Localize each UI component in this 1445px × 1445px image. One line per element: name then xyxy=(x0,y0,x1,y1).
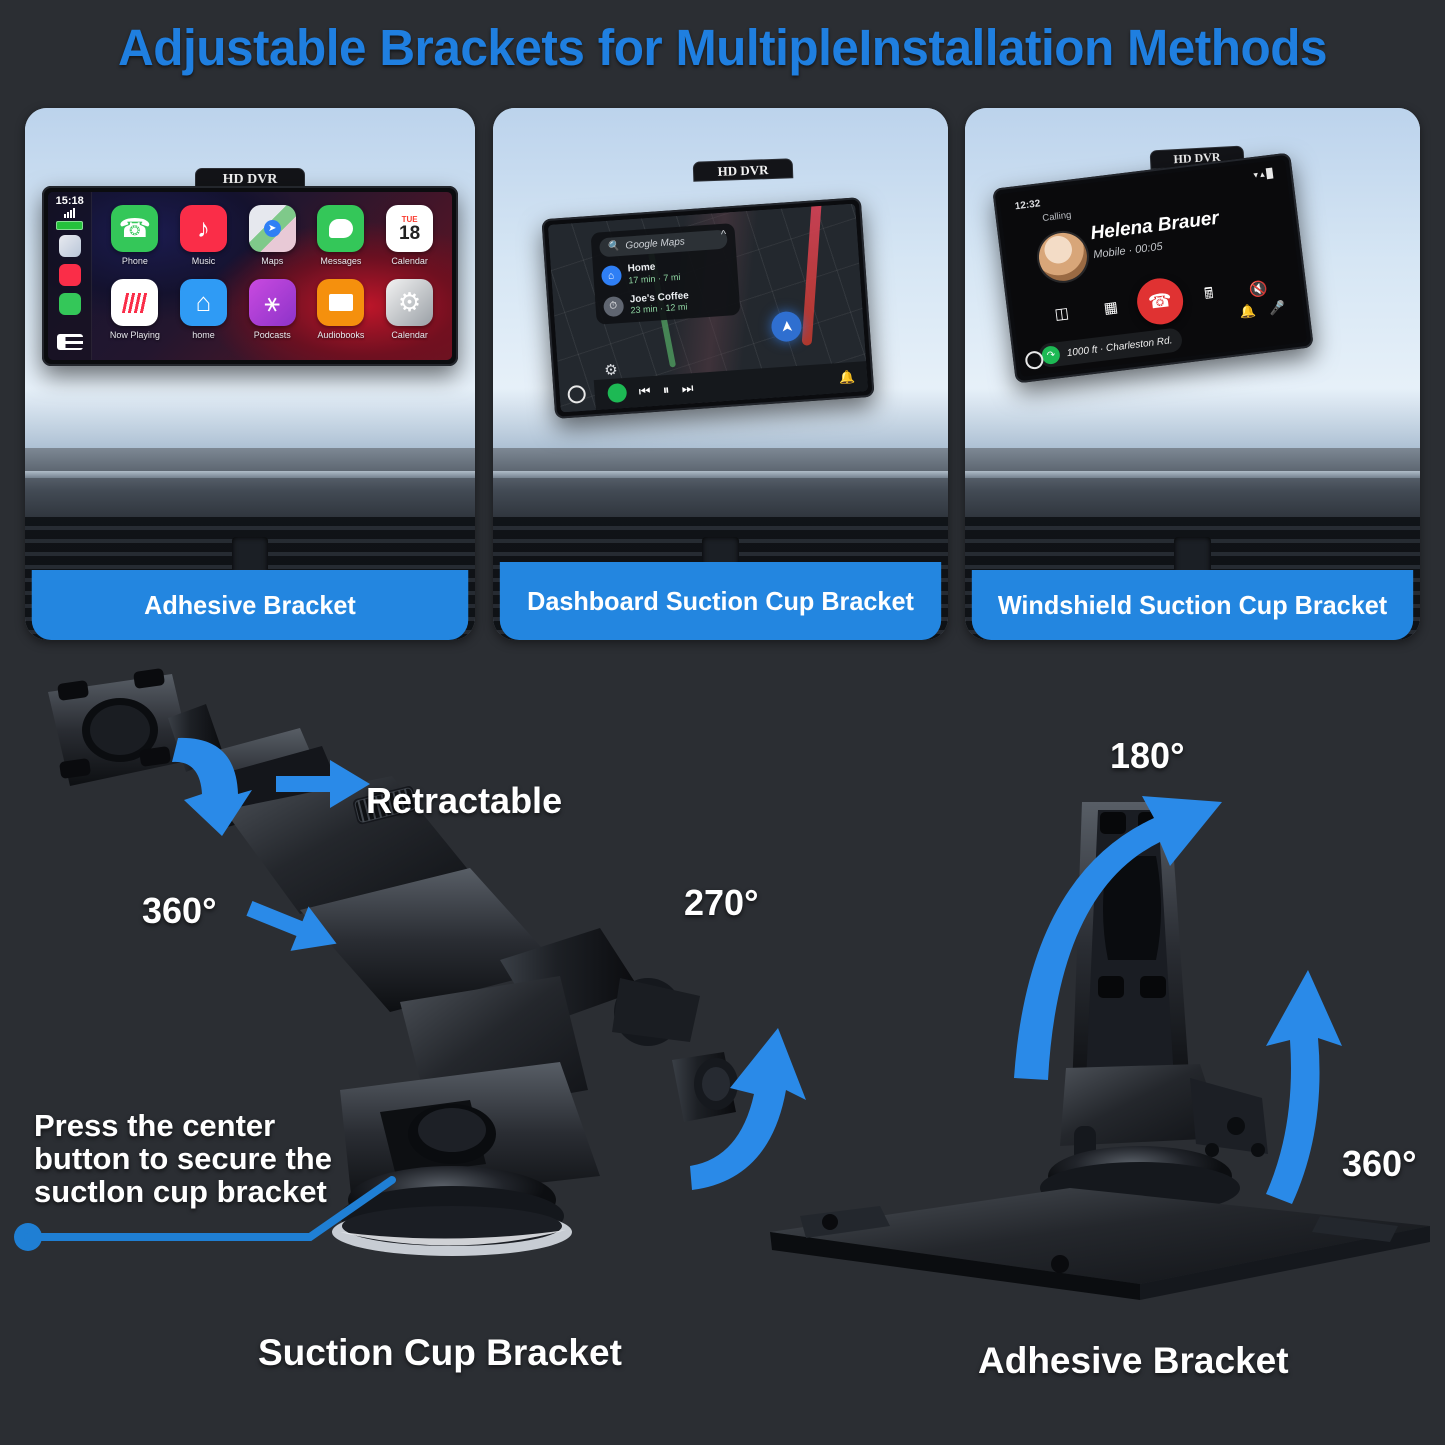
app-list-icon[interactable] xyxy=(57,334,83,350)
music-mini-icon[interactable] xyxy=(59,264,81,286)
card-windshield-suction-bracket[interactable]: HD DVR ▾▴█ 12:32 Calling Helena Brauer M… xyxy=(965,108,1420,640)
next-track-icon[interactable]: ⏭ xyxy=(681,380,694,397)
app-tile[interactable]: ⌂ home xyxy=(169,279,238,340)
app-label: Phone xyxy=(101,256,170,266)
navigation-hint-text: 1000 ft · Charleston Rd. xyxy=(1066,335,1173,359)
app-tile[interactable]: Audiobooks xyxy=(307,279,376,340)
bracket-detail-section: Retractable 360° 270° Press the center b… xyxy=(0,660,1445,1445)
phone-icon: ☎ xyxy=(111,205,158,252)
annotation-270: 270° xyxy=(684,882,758,924)
now-playing-icon xyxy=(111,279,158,326)
app-tile[interactable]: Messages xyxy=(307,205,376,266)
app-label: home xyxy=(169,330,238,340)
label-suction-cup-bracket: Suction Cup Bracket xyxy=(258,1332,622,1374)
calendar-icon: TUE 18 xyxy=(386,205,433,252)
annotation-center-button-callout: Press the center button to secure the su… xyxy=(34,1110,364,1209)
carplay-screen-home[interactable]: 15:18 ☎ xyxy=(48,192,452,360)
mute-microphone-icon[interactable]: 🔇 xyxy=(1233,277,1284,301)
calendar-day: 18 xyxy=(399,224,420,243)
chevron-up-icon[interactable]: ^ xyxy=(721,229,727,241)
maps-destination-panel[interactable]: ^ 🔍 Google Maps ⌂ Home 17 min · 7 mi xyxy=(590,223,741,324)
card-photo-windshield: HD DVR ▾▴█ 12:32 Calling Helena Brauer M… xyxy=(965,108,1420,640)
home-icon: ⌂ xyxy=(180,279,227,326)
retractable-arrow-right xyxy=(240,886,345,966)
annotation-180: 180° xyxy=(1110,735,1184,777)
search-placeholder: Google Maps xyxy=(625,237,685,252)
card-caption-windshield: Windshield Suction Cup Bracket xyxy=(972,570,1413,640)
end-call-icon: ☎ xyxy=(1134,276,1185,327)
app-tile[interactable]: Now Playing xyxy=(101,279,170,340)
app-tile[interactable]: ☎ Phone xyxy=(101,205,170,266)
end-call-button[interactable]: ☎ xyxy=(1133,276,1188,328)
spotify-icon[interactable] xyxy=(607,383,627,403)
app-label: Music xyxy=(169,256,238,266)
maps-mini-icon[interactable] xyxy=(59,235,81,257)
notification-bell-icon[interactable]: 🔔 xyxy=(1238,302,1256,320)
app-label: Podcasts xyxy=(238,330,307,340)
app-label: Calendar xyxy=(375,256,444,266)
podcasts-icon: ⚹ xyxy=(249,279,296,326)
music-icon: ♪ xyxy=(180,205,227,252)
tilt-180-arrow xyxy=(1014,796,1222,1080)
avatar xyxy=(1036,230,1089,283)
signal-strength-icon xyxy=(64,208,75,218)
card-photo-dashboard: HD DVR ^ 🔍 Google Maps xyxy=(493,108,948,640)
annotation-360-right: 360° xyxy=(1342,1143,1416,1185)
carplay-device-adhesive: 15:18 ☎ xyxy=(42,186,458,366)
app-tile[interactable]: ♪ Music xyxy=(169,205,238,266)
label-adhesive-bracket: Adhesive Bracket xyxy=(978,1340,1289,1382)
microphone-icon[interactable]: 🎤 xyxy=(1268,299,1286,317)
call-screen[interactable]: ▾▴█ 12:32 Calling Helena Brauer Mobile ·… xyxy=(999,159,1307,377)
messages-mini-icon[interactable] xyxy=(59,293,81,315)
app-tile[interactable]: TUE 18 Calendar xyxy=(375,205,444,266)
previous-track-icon[interactable]: ⏮ xyxy=(638,383,651,400)
retractable-arrow-left xyxy=(276,760,370,808)
app-label: Audiobooks xyxy=(307,330,376,340)
annotation-360-left: 360° xyxy=(142,890,216,932)
messages-icon xyxy=(317,205,364,252)
search-icon: 🔍 xyxy=(607,241,620,253)
page-title: Adjustable Brackets for MultipleInstalla… xyxy=(22,18,1424,77)
app-label: Now Playing xyxy=(101,330,170,340)
battery-icon xyxy=(56,221,83,230)
card-caption-adhesive: Adhesive Bracket xyxy=(32,570,469,640)
google-maps-view[interactable]: ^ 🔍 Google Maps ⌂ Home 17 min · 7 mi xyxy=(548,203,868,412)
destination-row[interactable]: ⏱ Joe's Coffee 23 min · 12 mi xyxy=(602,287,732,318)
home-pin-icon: ⌂ xyxy=(600,265,621,286)
app-label: Messages xyxy=(307,256,376,266)
carplay-device-windshield: ▾▴█ 12:32 Calling Helena Brauer Mobile ·… xyxy=(992,152,1314,383)
pause-icon[interactable]: ⏸ xyxy=(662,382,670,398)
maps-icon: ➤ xyxy=(249,205,296,252)
phone-call-view[interactable]: ▾▴█ 12:32 Calling Helena Brauer Mobile ·… xyxy=(999,159,1307,377)
bluetooth-icon[interactable]: 🖩 xyxy=(1183,280,1235,311)
card-photo-adhesive: HD DVR 15:18 xyxy=(25,108,475,640)
card-caption-dashboard: Dashboard Suction Cup Bracket xyxy=(500,562,941,640)
annotation-retractable: Retractable xyxy=(366,780,562,822)
search-input[interactable]: 🔍 Google Maps xyxy=(598,230,728,258)
carplay-device-dashboard: ^ 🔍 Google Maps ⌂ Home 17 min · 7 mi xyxy=(541,197,874,419)
sidebar-recent-apps[interactable] xyxy=(59,235,81,315)
status-time: 15:18 xyxy=(56,195,84,207)
annotation-arrows xyxy=(0,660,1445,1445)
card-dashboard-suction-bracket[interactable]: HD DVR ^ 🔍 Google Maps xyxy=(493,108,948,640)
installation-methods-gallery: HD DVR 15:18 xyxy=(0,108,1445,648)
destination-row[interactable]: ⌂ Home 17 min · 7 mi xyxy=(600,257,730,288)
recent-pin-icon: ⏱ xyxy=(603,296,624,317)
app-label: Calendar xyxy=(375,330,444,340)
caller-name: Helena Brauer xyxy=(1090,208,1221,246)
maps-screen[interactable]: ^ 🔍 Google Maps ⌂ Home 17 min · 7 mi xyxy=(548,203,868,412)
dialpad-icon[interactable]: ▦ xyxy=(1085,296,1136,320)
home-button-icon[interactable] xyxy=(1024,351,1044,371)
notification-bell-icon[interactable]: 🔔 xyxy=(838,369,855,386)
app-tile[interactable]: ⚹ Podcasts xyxy=(238,279,307,340)
call-state-label: Calling xyxy=(1042,210,1072,224)
carplay-sidebar[interactable]: 15:18 xyxy=(48,192,92,360)
rotation-270-arrow xyxy=(690,1028,806,1190)
app-label: Maps xyxy=(238,256,307,266)
keypad-toggle-icon[interactable]: ◫ xyxy=(1036,302,1087,326)
settings-icon: ⚙ xyxy=(386,279,433,326)
turn-right-icon: ↷ xyxy=(1041,346,1061,366)
rotation-360-arrow-left xyxy=(172,738,252,836)
app-tile[interactable]: ⚙ Calendar xyxy=(375,279,444,340)
carplay-app-grid[interactable]: ☎ Phone ♪ Music ➤ Maps xyxy=(101,205,444,353)
status-time: 12:32 xyxy=(1014,198,1041,212)
status-icons: ▾▴█ xyxy=(1253,168,1276,182)
card-adhesive-bracket[interactable]: HD DVR 15:18 xyxy=(25,108,475,640)
gear-icon[interactable]: ⚙ xyxy=(604,360,619,379)
app-tile[interactable]: ➤ Maps xyxy=(238,205,307,266)
hd-dvr-badge: HD DVR xyxy=(693,158,794,181)
rotation-360-arrow-right xyxy=(1266,970,1342,1204)
audiobooks-icon xyxy=(317,279,364,326)
